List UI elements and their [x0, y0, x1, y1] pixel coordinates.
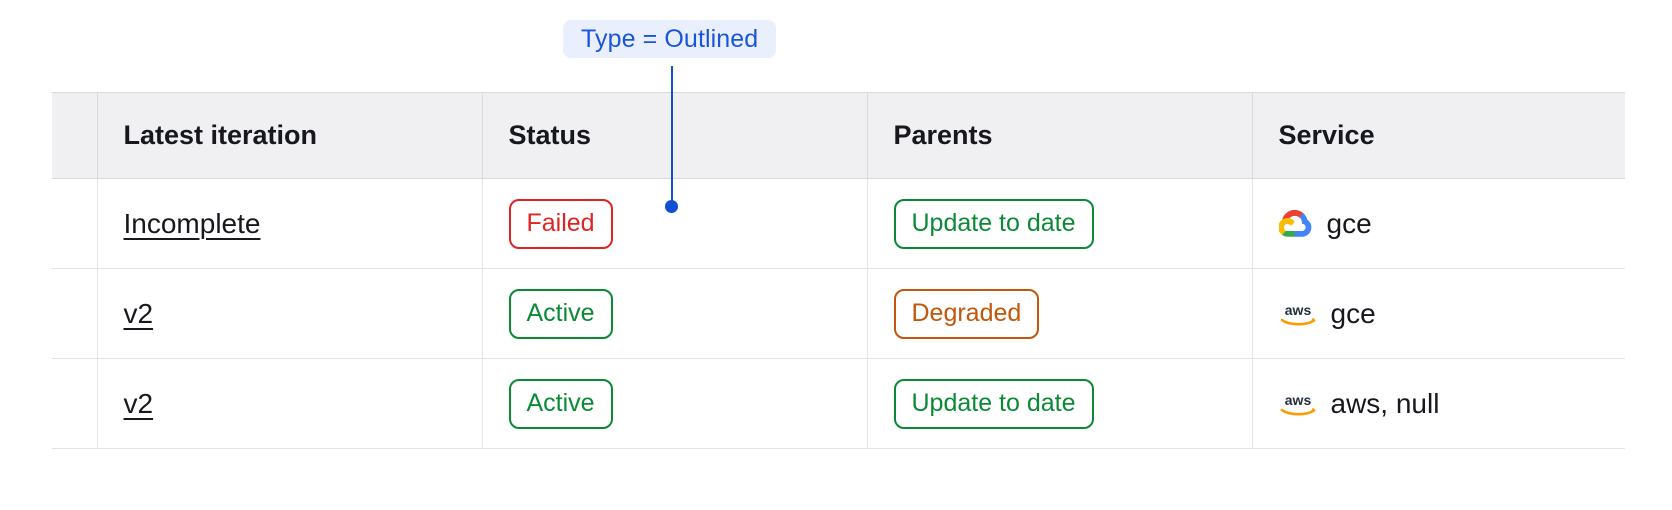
- row-gutter-cell: [52, 179, 97, 269]
- cell-parents: Update to date: [867, 179, 1252, 269]
- parents-badge[interactable]: Update to date: [894, 379, 1094, 429]
- cell-service: awsgce: [1252, 269, 1625, 359]
- table-row[interactable]: v2ActiveUpdate to dateawsaws, null: [52, 359, 1625, 449]
- service-cell-content: awsaws, null: [1279, 388, 1626, 420]
- cell-status: Active: [482, 269, 867, 359]
- table-header-row: Latest iteration Status Parents Service: [52, 93, 1625, 179]
- table-gutter-header: [52, 93, 97, 179]
- status-badge[interactable]: Active: [509, 379, 613, 429]
- svg-text:aws: aws: [1284, 302, 1311, 318]
- service-label: aws, null: [1331, 388, 1440, 420]
- table-row[interactable]: v2ActiveDegradedawsgce: [52, 269, 1625, 359]
- cell-status: Failed: [482, 179, 867, 269]
- column-header-status[interactable]: Status: [482, 93, 867, 179]
- cell-latest-iteration: v2: [97, 359, 482, 449]
- aws-icon: aws: [1279, 300, 1317, 328]
- column-header-latest-iteration[interactable]: Latest iteration: [97, 93, 482, 179]
- service-label: gce: [1327, 208, 1372, 240]
- cell-service: gce: [1252, 179, 1625, 269]
- cell-parents: Degraded: [867, 269, 1252, 359]
- parents-badge[interactable]: Update to date: [894, 199, 1094, 249]
- latest-iteration-link[interactable]: Incomplete: [124, 208, 261, 239]
- service-label: gce: [1331, 298, 1376, 330]
- cell-latest-iteration: Incomplete: [97, 179, 482, 269]
- table-row[interactable]: IncompleteFailedUpdate to dategce: [52, 179, 1625, 269]
- row-gutter-cell: [52, 269, 97, 359]
- cell-parents: Update to date: [867, 359, 1252, 449]
- status-badge[interactable]: Failed: [509, 199, 613, 249]
- iterations-table: Latest iteration Status Parents Service …: [52, 92, 1625, 449]
- row-gutter-cell: [52, 359, 97, 449]
- annotation-callout-chip: Type = Outlined: [563, 20, 776, 58]
- aws-icon: aws: [1279, 390, 1317, 418]
- table-body: IncompleteFailedUpdate to dategcev2Activ…: [52, 179, 1625, 449]
- latest-iteration-link[interactable]: v2: [124, 298, 154, 329]
- status-badge[interactable]: Active: [509, 289, 613, 339]
- parents-badge[interactable]: Degraded: [894, 289, 1040, 339]
- column-header-service[interactable]: Service: [1252, 93, 1625, 179]
- google-cloud-icon: [1279, 209, 1313, 239]
- service-cell-content: gce: [1279, 208, 1626, 240]
- cell-status: Active: [482, 359, 867, 449]
- cell-service: awsaws, null: [1252, 359, 1625, 449]
- service-cell-content: awsgce: [1279, 298, 1626, 330]
- column-header-parents[interactable]: Parents: [867, 93, 1252, 179]
- table-header: Latest iteration Status Parents Service: [52, 93, 1625, 179]
- latest-iteration-link[interactable]: v2: [124, 388, 154, 419]
- svg-text:aws: aws: [1284, 392, 1311, 408]
- cell-latest-iteration: v2: [97, 269, 482, 359]
